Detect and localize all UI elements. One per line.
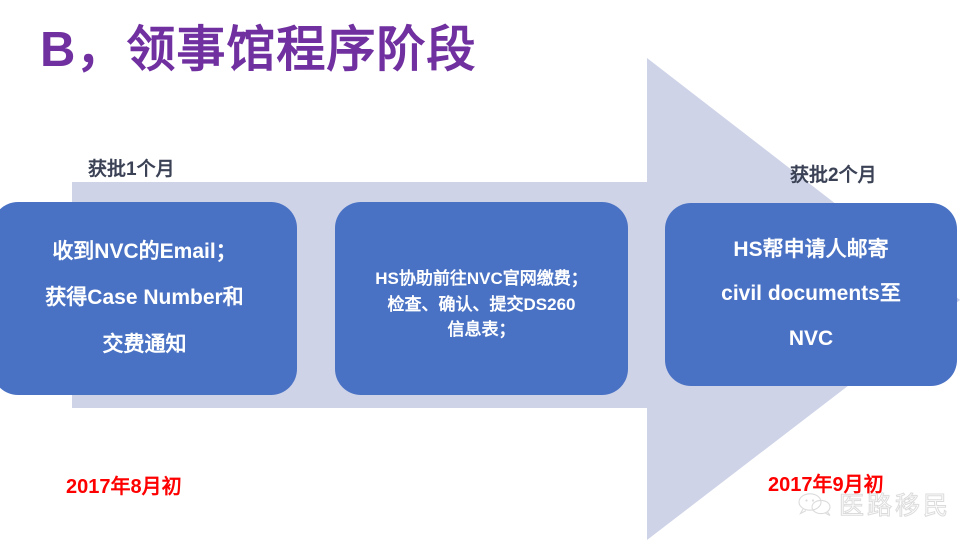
step-line: HS协助前往NVC官网缴费； — [341, 266, 622, 292]
step-line: NVC — [671, 325, 951, 353]
step-line: 信息表； — [341, 317, 622, 343]
slide-canvas: B，领事馆程序阶段 获批1个月 获批2个月 收到NVC的Email； 获得Cas… — [0, 0, 960, 540]
step-box-pay-fee-and-submit-ds260[interactable]: HS协助前往NVC官网缴费； 检查、确认、提交DS260 信息表； — [335, 202, 628, 395]
step-line: 收到NVC的Email； — [0, 238, 291, 266]
step-box-receive-nvc-email[interactable]: 收到NVC的Email； 获得Case Number和 交费通知 — [0, 202, 297, 395]
step-line: civil documents至 — [671, 280, 951, 308]
step-line: HS帮申请人邮寄 — [671, 236, 951, 264]
step-line: 检查、确认、提交DS260 — [341, 292, 622, 318]
step-box-mail-civil-documents[interactable]: HS帮申请人邮寄 civil documents至 NVC — [665, 203, 957, 386]
duration-label-stage-one: 获批1个月 — [88, 154, 175, 181]
date-note-start: 2017年8月初 — [66, 470, 182, 499]
step-line: 交费通知 — [0, 331, 291, 359]
page-title: B，领事馆程序阶段 — [40, 22, 476, 78]
date-note-end: 2017年9月初 — [768, 468, 884, 497]
duration-label-stage-two: 获批2个月 — [790, 160, 877, 187]
step-line: 获得Case Number和 — [0, 284, 291, 312]
